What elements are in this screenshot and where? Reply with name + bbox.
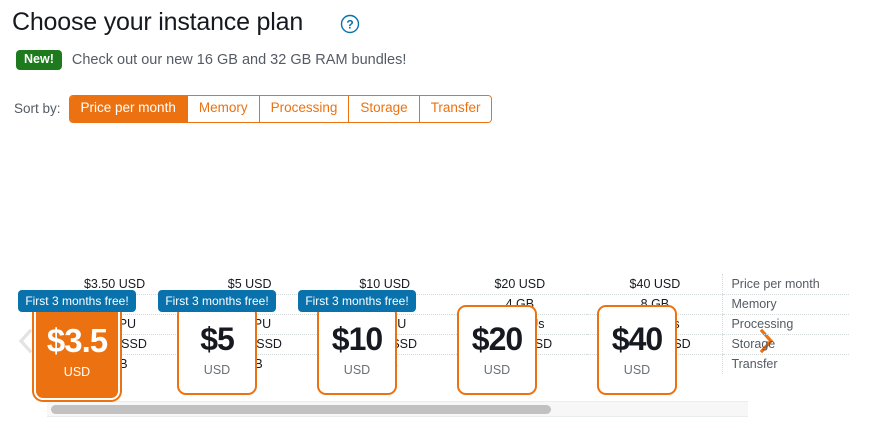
spec-cell: $20 USD [452, 274, 587, 294]
sort-option-price-per-month[interactable]: Price per month [70, 96, 188, 122]
plan-currency: USD [484, 363, 510, 377]
svg-text:?: ? [346, 18, 353, 32]
sort-bar: Sort by: Price per month Memory Processi… [14, 96, 491, 122]
instance-plan-panel: Choose your instance plan ? New! Check o… [0, 0, 875, 428]
sort-option-processing[interactable]: Processing [260, 96, 350, 122]
plan-card-button-5[interactable]: $40 USD [597, 305, 677, 395]
plan-currency: USD [64, 365, 90, 379]
plan-carousel: First 3 months free! $3.5 USD First 3 mo… [0, 140, 875, 270]
page-title: Choose your instance plan [12, 8, 303, 37]
promo-badge: First 3 months free! [298, 290, 416, 312]
plan-price: $40 [612, 323, 662, 355]
table-row: 1 vCPU 1 vCPU 1 vCPU 2 vCPUs 2 vCPUs Pro… [47, 314, 849, 334]
new-announcement-text: Check out our new 16 GB and 32 GB RAM bu… [72, 52, 407, 68]
plan-price: $5 [200, 323, 234, 355]
table-row: 20 GB SSD 40 GB SSD 60 GB SSD 80 GB SSD … [47, 334, 849, 354]
sort-button-group: Price per month Memory Processing Storag… [70, 96, 492, 122]
plan-currency: USD [624, 363, 650, 377]
spec-row-label: Storage [723, 334, 849, 354]
spec-row-label: Memory [723, 294, 849, 314]
plan-currency: USD [204, 363, 230, 377]
spec-row-label: Price per month [723, 274, 849, 294]
plan-currency: USD [344, 363, 370, 377]
plan-card-button-4[interactable]: $20 USD [457, 305, 537, 395]
table-row: 1 TB 2 TB 3 TB 4 TB 5 TB Transfer [47, 354, 849, 374]
plan-card-button-3[interactable]: $10 USD [317, 305, 397, 395]
sort-by-label: Sort by: [14, 101, 61, 116]
plan-price: $20 [472, 323, 522, 355]
plan-comparison-table: $3.50 USD $5 USD $10 USD $20 USD $40 USD… [47, 274, 849, 374]
plan-card-button-1[interactable]: $3.5 USD [34, 302, 120, 400]
spec-row-label: Transfer [723, 354, 849, 374]
plan-price: $10 [332, 323, 382, 355]
sort-option-storage[interactable]: Storage [349, 96, 419, 122]
new-badge: New! [16, 50, 62, 70]
horizontal-scrollbar-thumb[interactable] [51, 405, 551, 414]
plan-price: $3.5 [47, 324, 107, 357]
sort-option-memory[interactable]: Memory [188, 96, 260, 122]
promo-badge: First 3 months free! [18, 290, 136, 312]
new-announcement: New! Check out our new 16 GB and 32 GB R… [16, 50, 406, 70]
horizontal-scrollbar-track[interactable] [47, 401, 748, 417]
sort-option-transfer[interactable]: Transfer [420, 96, 492, 122]
promo-badge: First 3 months free! [158, 290, 276, 312]
question-circle-icon[interactable]: ? [340, 14, 360, 34]
plan-card-button-2[interactable]: $5 USD [177, 305, 257, 395]
spec-row-label: Processing [723, 314, 849, 334]
spec-cell: $40 USD [587, 274, 723, 294]
